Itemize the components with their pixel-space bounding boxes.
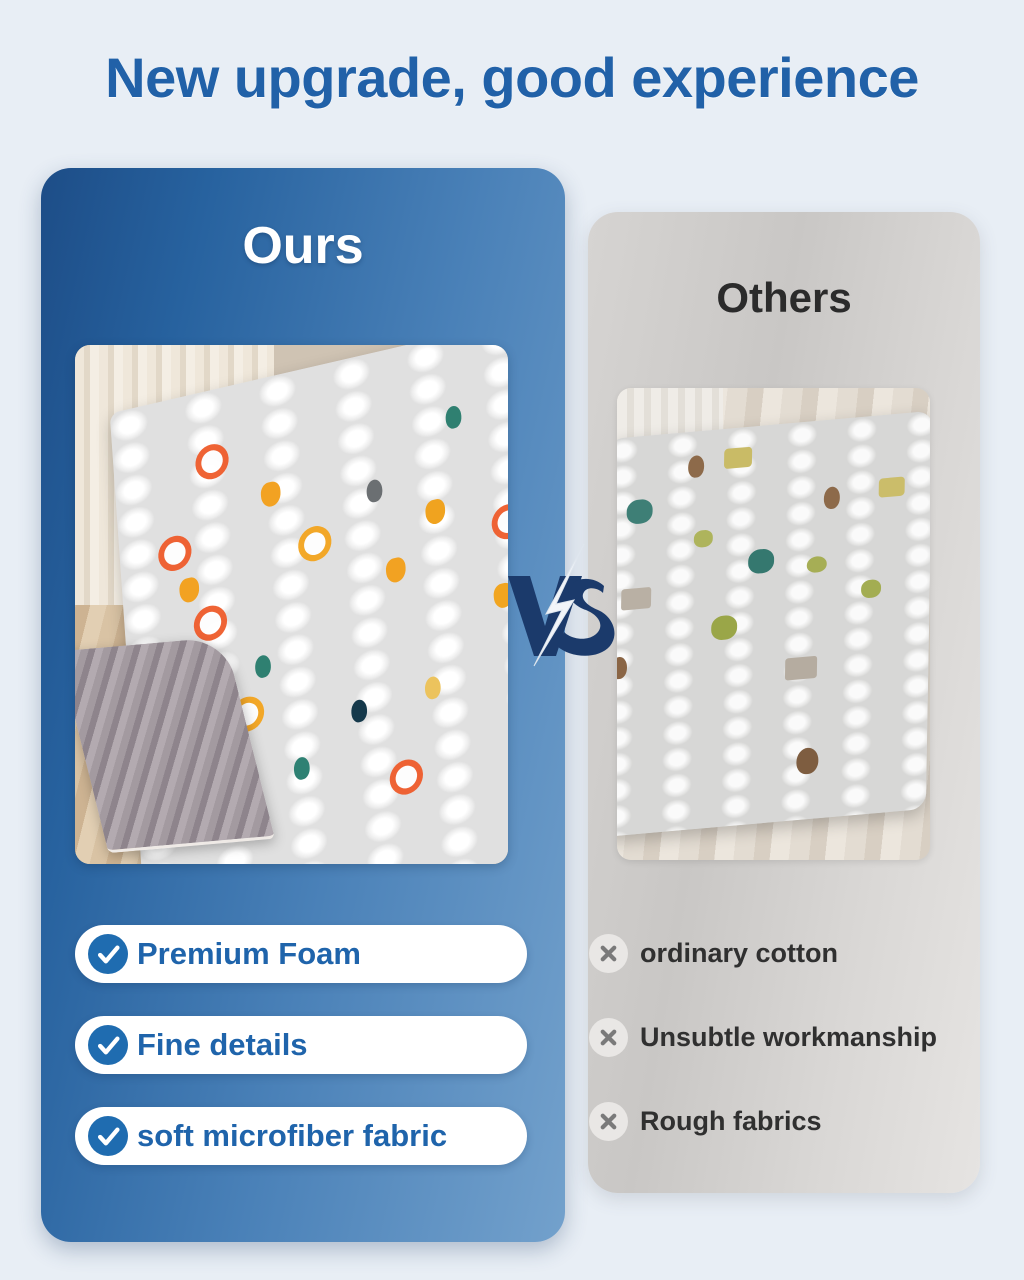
- page-title: New upgrade, good experience: [0, 45, 1024, 110]
- others-feature-item[interactable]: ordinary cotton: [589, 925, 981, 981]
- ours-feature-item[interactable]: Premium Foam: [75, 925, 527, 983]
- bunny-motif: [366, 478, 383, 504]
- flower-motif: [163, 540, 186, 567]
- house-motif: [622, 586, 652, 610]
- x-circle-icon: [589, 1018, 628, 1057]
- others-product-photo: [617, 388, 930, 860]
- ours-feature-item[interactable]: Fine details: [75, 1016, 527, 1074]
- tree-motif: [712, 615, 738, 641]
- check-circle-icon: [88, 1116, 128, 1156]
- ours-product-photo: [75, 345, 508, 864]
- check-circle-icon: [88, 1025, 128, 1065]
- others-feature-item[interactable]: Unsubtle workmanship: [589, 1009, 981, 1065]
- ours-feature-item[interactable]: soft microfiber fabric: [75, 1107, 527, 1165]
- others-photo-scene: [617, 388, 930, 860]
- ours-feature-label: Premium Foam: [137, 936, 361, 972]
- x-circle-icon: [589, 934, 628, 973]
- x-circle-icon: [589, 1102, 628, 1141]
- ours-feature-label: soft microfiber fabric: [137, 1118, 447, 1154]
- vs-badge: [500, 540, 620, 670]
- carrot-motif: [178, 576, 199, 605]
- flower-motif: [198, 609, 221, 636]
- leaf-motif: [254, 653, 271, 679]
- flower-motif: [395, 763, 418, 790]
- leaf-motif: [292, 755, 309, 781]
- house-motif: [880, 477, 906, 498]
- carrot-motif: [425, 497, 446, 526]
- ours-feature-list: Premium Foam Fine details soft microfibe…: [75, 925, 531, 1198]
- ours-photo-scene: [75, 345, 508, 864]
- others-feature-item[interactable]: Rough fabrics: [589, 1093, 981, 1149]
- flower-motif: [496, 507, 508, 534]
- house-motif: [725, 446, 753, 469]
- deer-motif: [797, 747, 819, 775]
- deer-motif: [807, 555, 827, 573]
- tree-motif: [749, 548, 775, 574]
- flower-motif: [303, 530, 326, 557]
- others-feature-label: Rough fabrics: [640, 1106, 822, 1137]
- play-mat: [617, 411, 930, 838]
- pineapple-motif: [424, 675, 441, 701]
- tree-motif: [694, 529, 713, 548]
- house-motif: [786, 655, 818, 680]
- carrot-motif: [384, 556, 405, 585]
- others-feature-label: ordinary cotton: [640, 938, 838, 969]
- others-feature-list: ordinary cotton Unsubtle workmanship Rou…: [589, 925, 981, 1177]
- tree-motif: [862, 578, 882, 598]
- carrot-motif: [260, 479, 281, 508]
- flower-motif: [200, 448, 223, 475]
- leaf-motif: [444, 404, 461, 430]
- others-heading: Others: [588, 274, 980, 322]
- ours-feature-label: Fine details: [137, 1027, 308, 1063]
- deer-motif: [689, 454, 705, 478]
- ours-heading: Ours: [41, 216, 565, 276]
- leaf-motif: [350, 697, 367, 723]
- deer-motif: [824, 486, 840, 510]
- tree-motif: [626, 499, 652, 525]
- check-circle-icon: [88, 934, 128, 974]
- others-feature-label: Unsubtle workmanship: [640, 1022, 937, 1053]
